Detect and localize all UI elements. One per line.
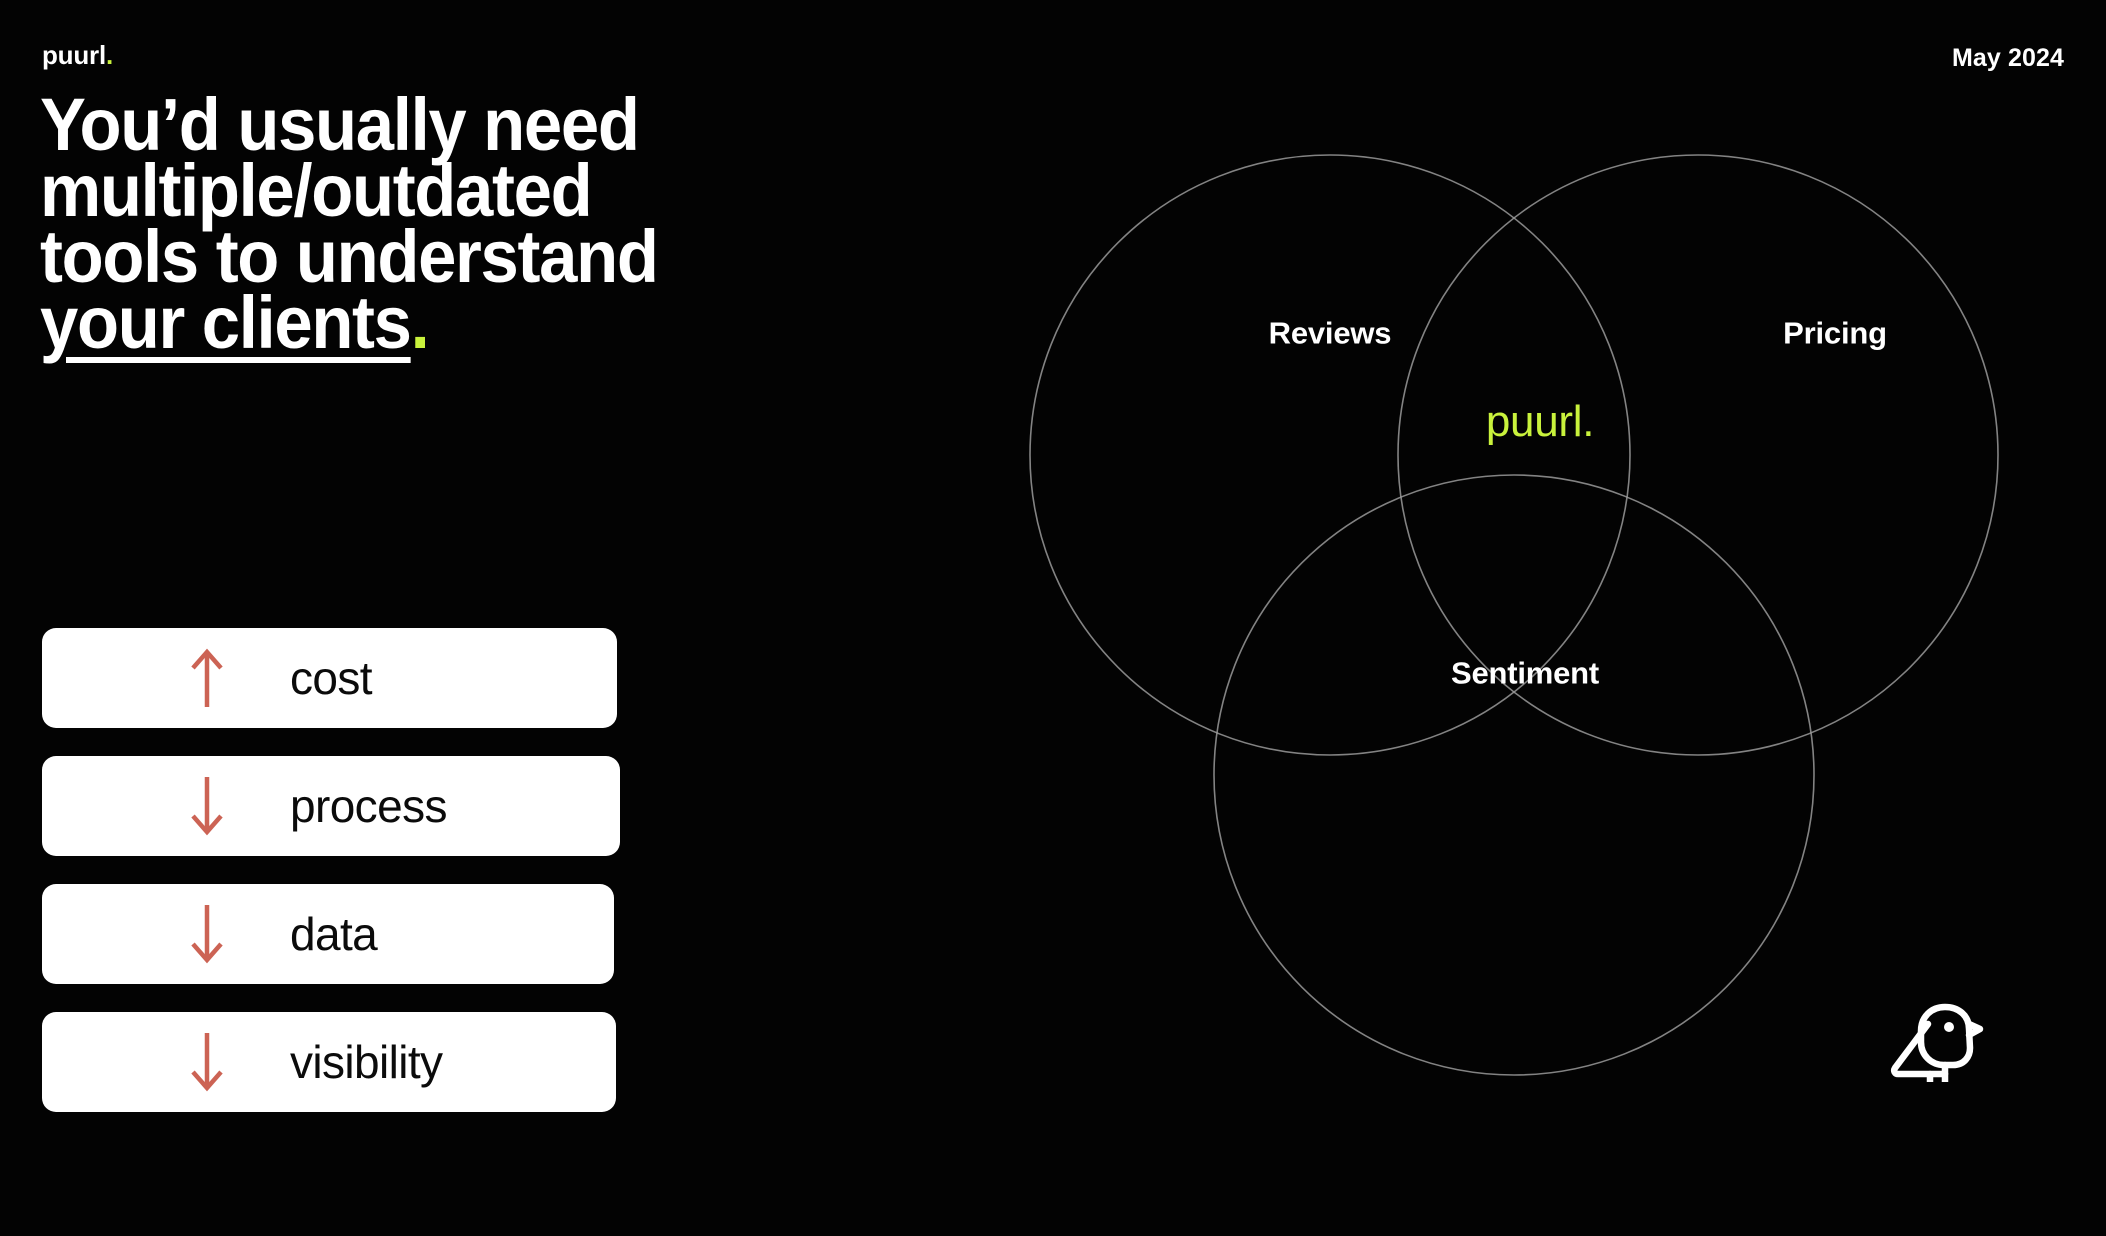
metric-pill-data[interactable]: data bbox=[42, 884, 614, 984]
arrow-down-icon bbox=[190, 1032, 224, 1092]
venn-circle-sentiment bbox=[1214, 475, 1814, 1075]
headline-dot: . bbox=[411, 281, 429, 364]
brand-logo: puurl. bbox=[42, 42, 113, 68]
metric-pill-visibility[interactable]: visibility bbox=[42, 1012, 616, 1112]
venn-label-sentiment: Sentiment bbox=[1451, 658, 1599, 689]
brand-logo-dot: . bbox=[106, 40, 113, 70]
page-title: You’d usually need multiple/outdated too… bbox=[40, 92, 710, 355]
arrow-up-icon bbox=[190, 648, 224, 708]
venn-label-reviews: Reviews bbox=[1269, 318, 1392, 349]
bird-eye-icon bbox=[1944, 1022, 1954, 1032]
headline-emphasis: your clients bbox=[40, 281, 411, 364]
metric-pill-cost[interactable]: cost bbox=[42, 628, 617, 728]
metric-pill-label: cost bbox=[290, 655, 372, 701]
arrow-down-icon bbox=[190, 776, 224, 836]
metric-pill-process[interactable]: process bbox=[42, 756, 620, 856]
headline-line-1: You’d usually need bbox=[40, 92, 710, 158]
venn-label-pricing: Pricing bbox=[1783, 318, 1887, 349]
metric-pill-label: process bbox=[290, 783, 447, 829]
brand-logo-text: puurl bbox=[42, 40, 106, 70]
bird-icon bbox=[1885, 1002, 1985, 1082]
metric-pill-label: visibility bbox=[290, 1039, 442, 1085]
venn-diagram: Reviews Pricing Sentiment puurl. bbox=[1020, 120, 2080, 1110]
date-stamp: May 2024 bbox=[1952, 46, 2064, 71]
venn-center-brand: puurl. bbox=[1486, 400, 1594, 444]
headline-line-4: your clients. bbox=[40, 290, 710, 356]
headline-line-2: multiple/outdated bbox=[40, 158, 710, 224]
metric-pill-list: cost process data visibility bbox=[42, 628, 617, 1140]
arrow-down-icon bbox=[190, 904, 224, 964]
metric-pill-label: data bbox=[290, 911, 377, 957]
slide-canvas: puurl. May 2024 You’d usually need multi… bbox=[0, 0, 2106, 1236]
